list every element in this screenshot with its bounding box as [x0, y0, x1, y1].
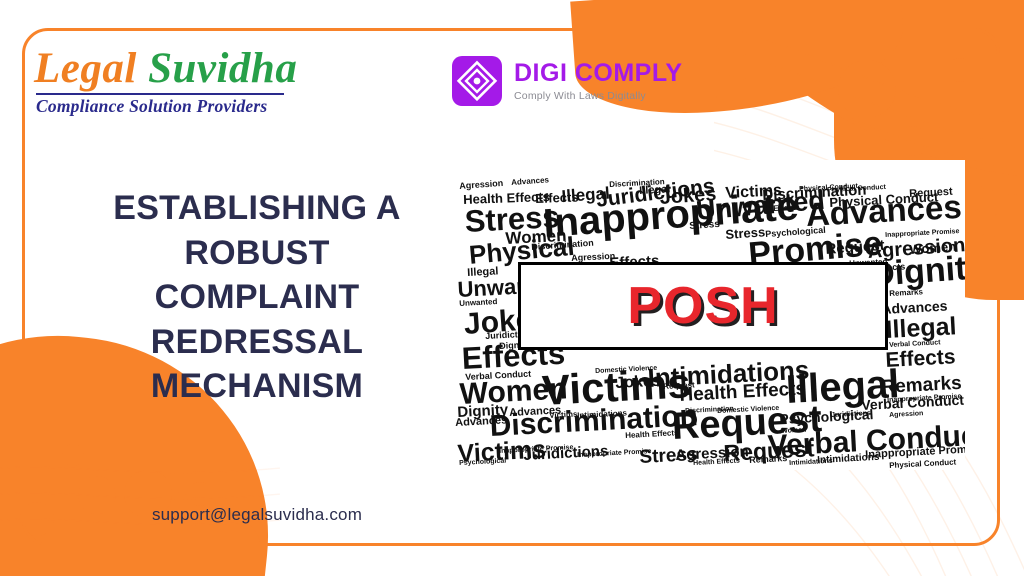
headline-line: ESTABLISHING A	[62, 186, 452, 231]
word-cloud-term: Health Effects	[693, 458, 740, 467]
word-cloud-term: Verbal Conduct	[861, 393, 964, 412]
digi-comply-tagline: Comply With Laws Digitally	[514, 90, 683, 102]
word-cloud-term: Physical Conduct	[889, 458, 956, 470]
word-cloud-term: Remarks	[749, 454, 787, 465]
word-cloud-term: Illegal	[885, 314, 957, 343]
digi-comply-logo: DIGI COMPLY Comply With Laws Digitally	[452, 56, 683, 106]
decor-dot-bl-5	[20, 502, 54, 536]
word-cloud-term: Remarks	[889, 288, 923, 298]
word-cloud-term: Advances	[511, 176, 549, 187]
legal-suvidha-tagline: Compliance Solution Providers	[36, 96, 296, 117]
headline-line: MECHANISM	[62, 364, 452, 409]
word-cloud-term: Health Effects	[625, 429, 679, 440]
poster-canvas: Legal Suvidha Compliance Solution Provid…	[0, 0, 1024, 576]
decor-dot-tr-2	[898, 126, 928, 156]
headline-line: ROBUST	[62, 231, 452, 276]
posh-word-cloud-image: AgressionAdvancesHealth EffectsEffectsIl…	[437, 160, 965, 470]
logo-divider-rule	[36, 93, 284, 95]
logo-word-legal: Legal	[34, 45, 137, 92]
legal-suvidha-logo: Legal Suvidha Compliance Solution Provid…	[34, 46, 296, 117]
word-cloud-term: Effects	[773, 204, 800, 213]
headline-line: REDRESSAL	[62, 320, 452, 365]
decor-dot-tr-1	[838, 60, 896, 118]
page-title: ESTABLISHING A ROBUST COMPLAINT REDRESSA…	[62, 186, 452, 409]
posh-label: POSH	[627, 280, 778, 332]
logo-word-suvidha: Suvidha	[148, 45, 297, 92]
diamond-emblem-icon	[452, 56, 502, 106]
legal-suvidha-wordmark: Legal Suvidha	[34, 46, 296, 91]
word-cloud-term: Agression	[889, 410, 924, 419]
decor-dot-bl-1	[62, 444, 84, 466]
decor-dot-tr-3	[948, 58, 972, 82]
word-cloud-term: Stress	[689, 220, 720, 232]
digi-comply-text-block: DIGI COMPLY Comply With Laws Digitally	[514, 61, 683, 102]
posh-callout-box: POSH	[518, 262, 888, 350]
digi-comply-title: DIGI COMPLY	[514, 61, 683, 86]
contact-email: support@legalsuvidha.com	[62, 505, 452, 525]
headline-line: COMPLAINT	[62, 275, 452, 320]
decor-dot-bl-4	[188, 482, 212, 506]
word-cloud-term: Agression	[459, 179, 504, 191]
